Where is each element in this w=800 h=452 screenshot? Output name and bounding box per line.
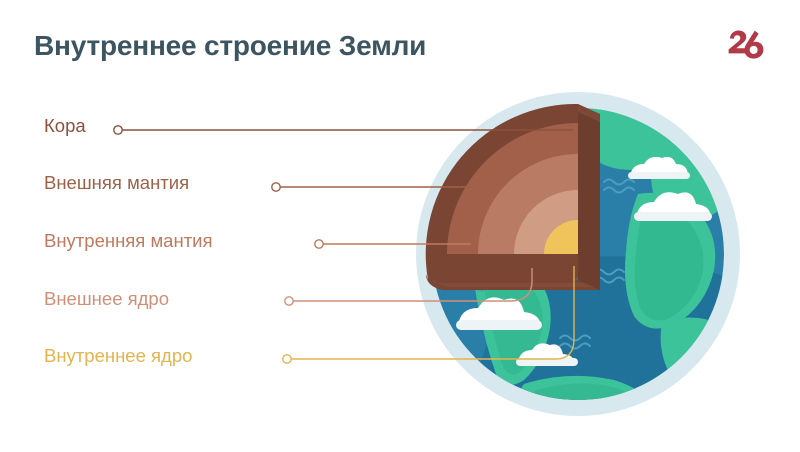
label-inner-core: Внутреннее ядро [44, 347, 192, 366]
label-crust: Кора [44, 117, 86, 136]
label-outer-mantle: Внешняя мантия [44, 174, 189, 193]
infographic-page: Внутреннее строение Земли Кора Внешняя м… [0, 0, 800, 452]
label-outer-core: Внешнее ядро [44, 290, 169, 309]
logo-26[interactable] [724, 26, 770, 60]
cut-face-right [578, 104, 600, 290]
label-inner-mantle: Внутренняя мантия [44, 232, 213, 251]
earth-cutaway-illustration [408, 84, 748, 424]
page-title: Внутреннее строение Земли [34, 30, 426, 62]
